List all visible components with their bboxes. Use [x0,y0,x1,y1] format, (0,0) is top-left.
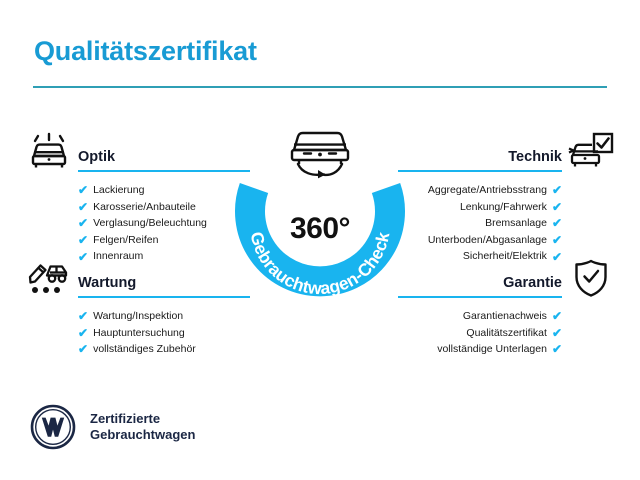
list-item-label: vollständiges Zubehör [93,341,196,358]
check-icon: ✔ [552,201,562,213]
check-icon: ✔ [78,310,88,322]
list-item-label: Garantienachweis [463,308,547,325]
checklist-technik: ✔Aggregate/Antriebsstrang ✔Lenkung/Fahrw… [386,182,616,265]
checklist-garantie: ✔Garantienachweis ✔Qualitätszertifikat ✔… [386,308,616,358]
list-item-label: Qualitätszertifikat [466,325,547,342]
car-rotate-icon [280,122,360,180]
list-item-label: Aggregate/Antriebsstrang [428,182,547,199]
check-icon: ✔ [78,327,88,339]
brand-line-2: Gebrauchtwagen [90,427,195,443]
check-icon: ✔ [78,234,88,246]
section-header: Garantie [386,256,616,300]
list-item-label: Lenkung/Fahrwerk [460,199,547,216]
check-icon: ✔ [552,184,562,196]
title-divider [33,86,607,88]
brand-line-1: Zertifizierte [90,411,195,427]
section-underline [398,296,562,298]
list-item-label: Hauptuntersuchung [93,325,185,342]
check-icon: ✔ [78,201,88,213]
section-header: Technik [386,130,616,174]
list-item: ✔vollständiges Zubehör [78,341,254,358]
section-header: Wartung [24,256,254,300]
section-title: Optik [78,149,115,165]
check-icon: ✔ [552,234,562,246]
car-shine-icon [24,130,74,174]
check-icon: ✔ [552,343,562,355]
service-book-pen-icon [24,256,74,300]
section-title: Wartung [78,275,136,291]
page-title: Qualitätszertifikat [34,36,257,67]
list-item-label: Lackierung [93,182,144,199]
check-icon: ✔ [552,217,562,229]
checklist-wartung: ✔Wartung/Inspektion ✔Hauptuntersuchung ✔… [24,308,254,358]
section-title: Technik [508,149,562,165]
list-item: ✔Qualitätszertifikat [386,325,562,342]
section-optik: Optik ✔Lackierung ✔Karosserie/Anbauteile… [24,130,254,265]
check-icon: ✔ [552,310,562,322]
list-item-label: Bremsanlage [485,215,547,232]
badge-360-gebrauchtwagen-check: Gebrauchtwagen-Check [226,116,414,312]
list-item: ✔vollständige Unterlagen [386,341,562,358]
section-wartung: Wartung ✔Wartung/Inspektion ✔Hauptunters… [24,256,254,358]
section-header: Optik [24,130,254,174]
checklist-optik: ✔Lackierung ✔Karosserie/Anbauteile ✔Verg… [24,182,254,265]
list-item-label: vollständige Unterlagen [437,341,547,358]
brand-text: Zertifizierte Gebrauchtwagen [90,411,195,443]
list-item: ✔Hauptuntersuchung [78,325,254,342]
check-icon: ✔ [78,184,88,196]
section-underline [78,296,250,298]
list-item-label: Felgen/Reifen [93,232,158,249]
shield-check-icon [566,256,616,300]
badge-value: 360° [226,212,414,246]
section-title: Garantie [503,275,562,291]
car-checkbox-icon [566,130,616,174]
footer-brand: Zertifizierte Gebrauchtwagen [30,404,195,450]
section-garantie: Garantie ✔Garantienachweis ✔Qualitätszer… [386,256,616,358]
check-icon: ✔ [552,327,562,339]
section-underline [398,170,562,172]
list-item-label: Karosserie/Anbauteile [93,199,196,216]
section-underline [78,170,250,172]
section-technik: Technik ✔Aggregate/Antriebsstrang ✔Lenku… [386,130,616,265]
check-icon: ✔ [78,217,88,229]
list-item-label: Verglasung/Beleuchtung [93,215,207,232]
list-item-label: Unterboden/Abgasanlage [428,232,547,249]
certificate-page: Qualitätszertifikat [0,0,640,480]
check-icon: ✔ [78,343,88,355]
list-item-label: Wartung/Inspektion [93,308,183,325]
volkswagen-logo [30,404,76,450]
